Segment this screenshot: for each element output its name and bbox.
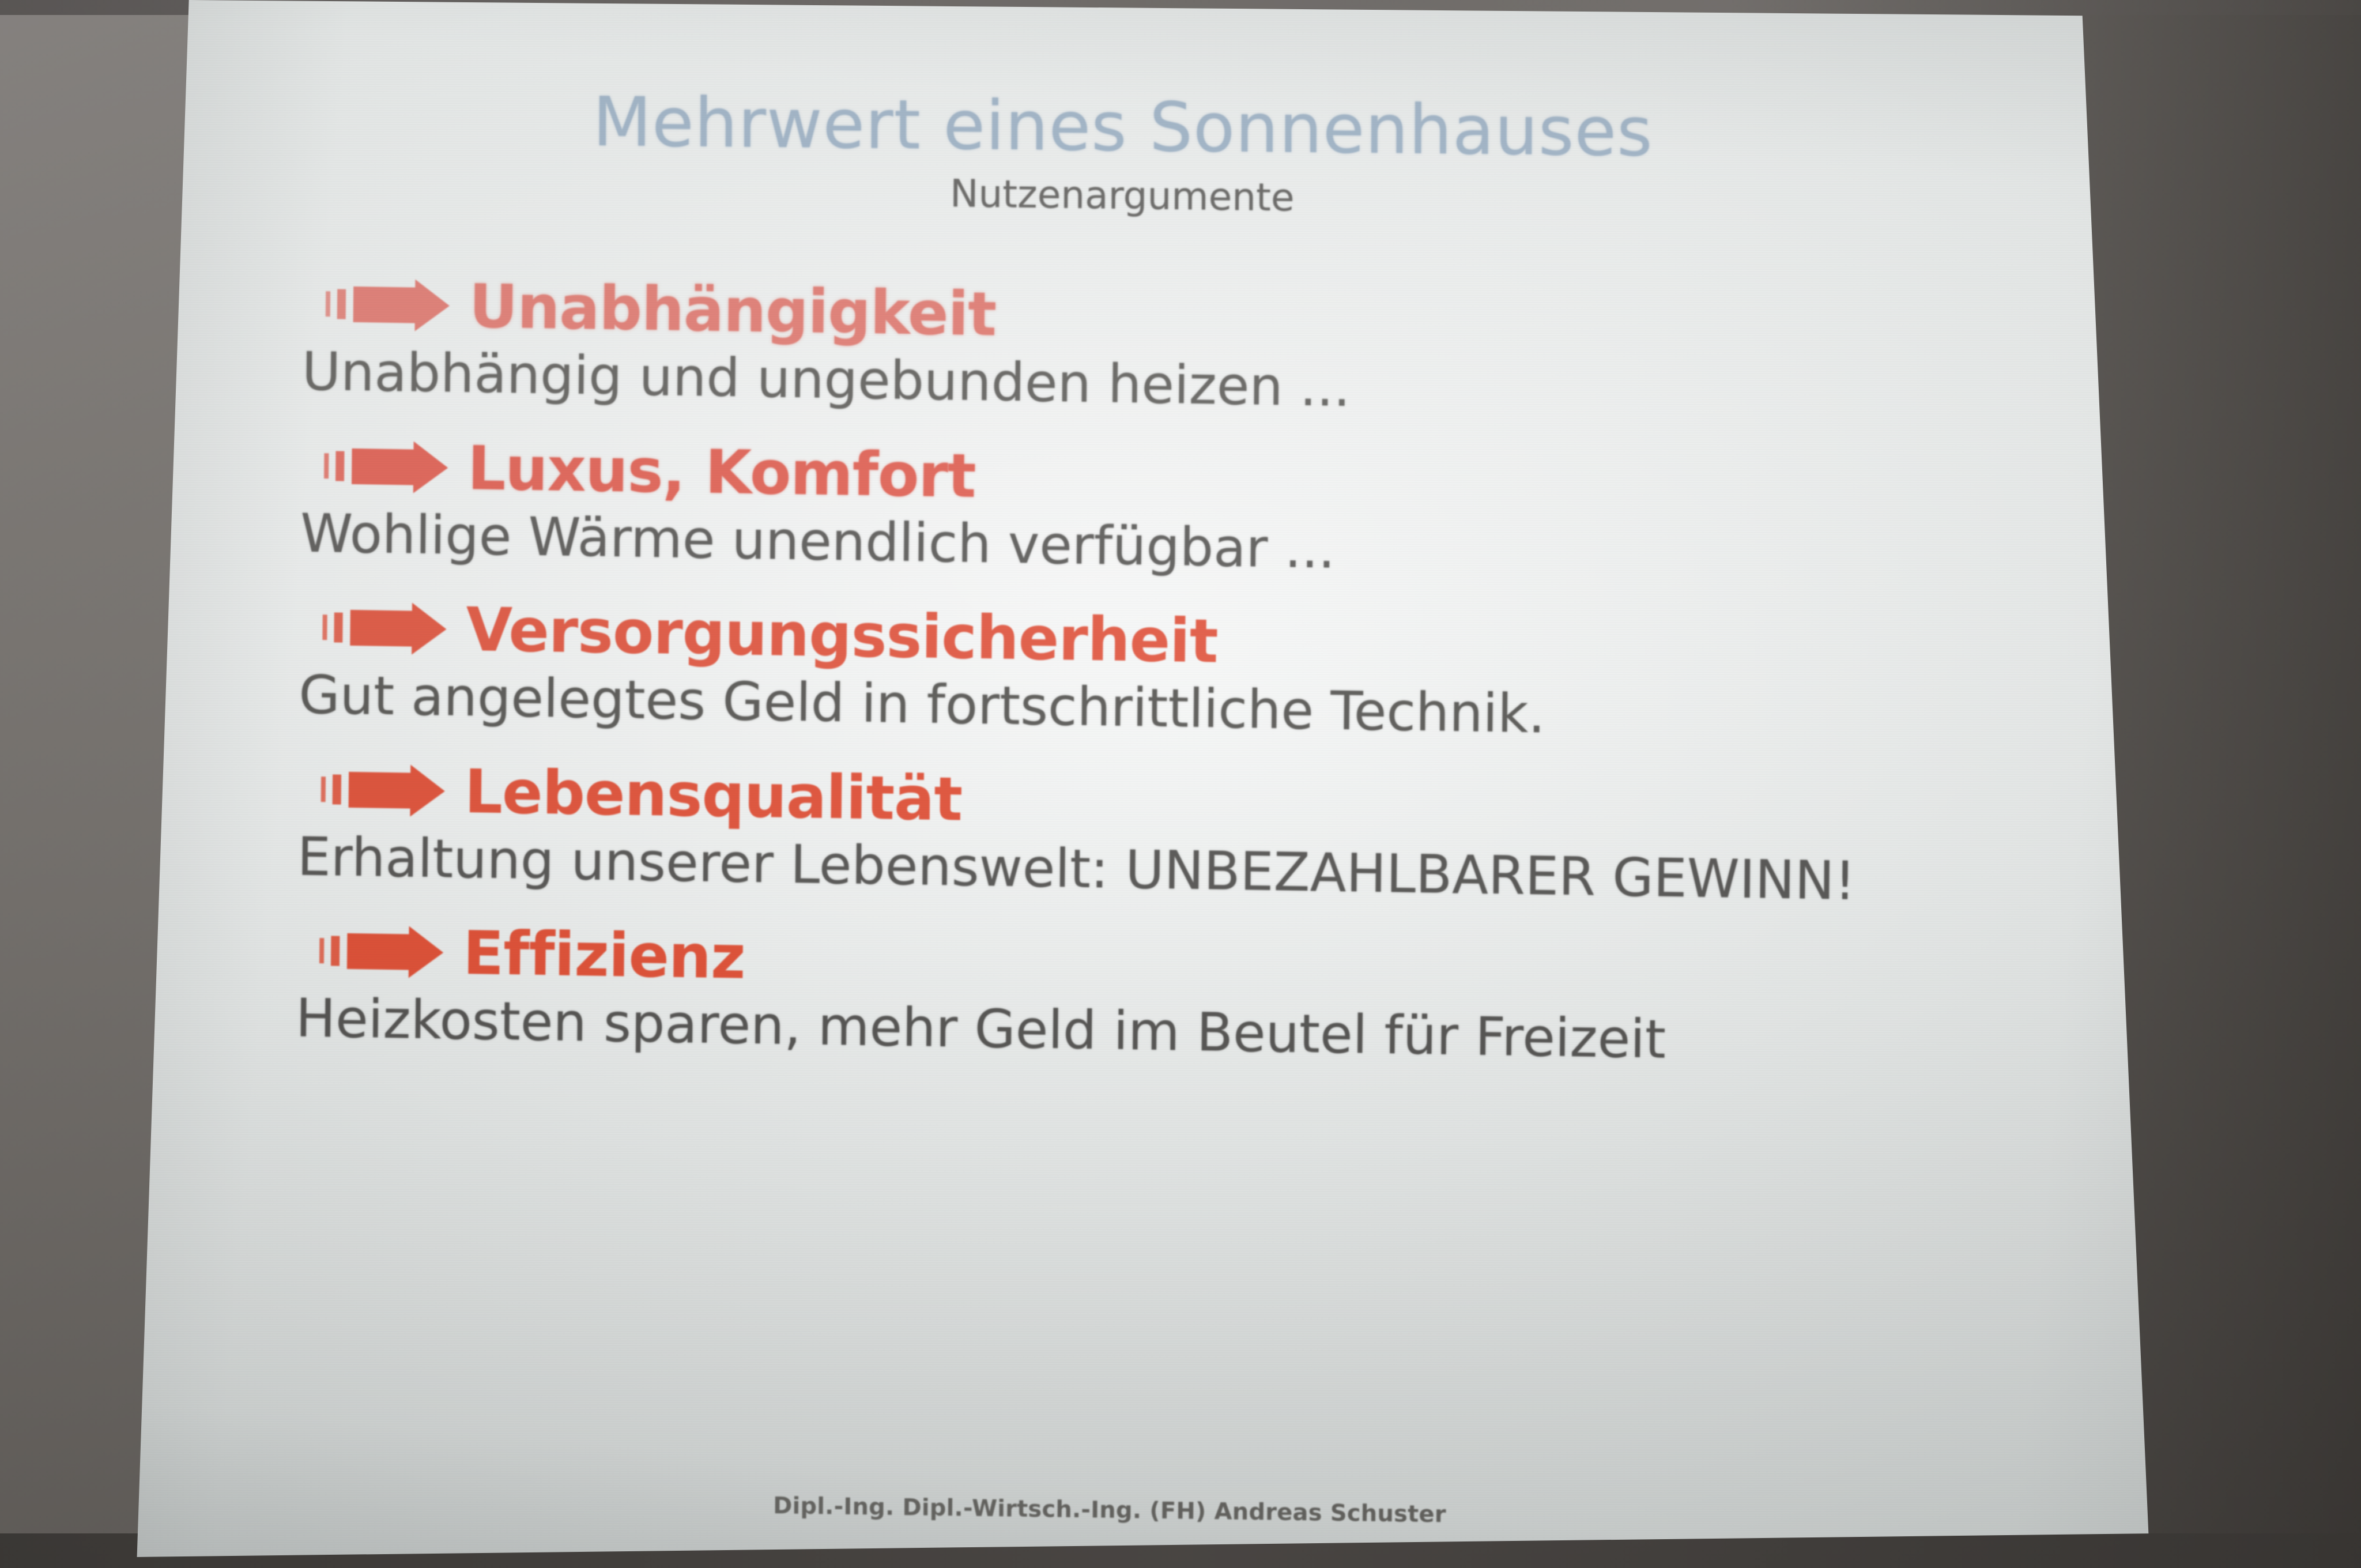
bullet-item-effizienz: Effizienz Heizkosten sparen, mehr Geld i… — [296, 921, 2084, 1075]
slide-footer-author: Dipl.-Ing. Dipl.-Wirtsch.-Ing. (FH) Andr… — [124, 1484, 2095, 1536]
right-arrow-icon — [319, 933, 444, 970]
slide-title: Mehrwert eines Sonnenhauses — [137, 81, 2109, 173]
bullet-item-lebensqualitaet: Lebensqualität Erhaltung unserer Lebensw… — [297, 759, 2085, 913]
bullet-title: Versorgungssicherheit — [466, 600, 1218, 671]
bullet-item-versorgungssicherheit: Versorgungssicherheit Gut angelegtes Gel… — [299, 597, 2087, 751]
right-arrow-icon — [326, 286, 450, 323]
bullet-title: Lebensqualität — [464, 762, 962, 830]
right-arrow-icon — [322, 609, 447, 647]
bullet-title: Luxus, Komfort — [467, 438, 976, 506]
title-block: Mehrwert eines Sonnenhauses Nutzenargume… — [137, 75, 2109, 233]
bullet-title: Unabhängigkeit — [469, 276, 996, 344]
projection-screen: Mehrwert eines Sonnenhauses Nutzenargume… — [0, 0, 2361, 1568]
slide-subtitle: Nutzenargumente — [137, 163, 2108, 229]
bullet-item-luxus-komfort: Luxus, Komfort Wohlige Wärme unendlich v… — [300, 435, 2088, 589]
bullet-title: Effizienz — [463, 923, 745, 987]
bullet-item-unabhaengigkeit: Unabhängigkeit Unabhängig und ungebunden… — [301, 274, 2090, 428]
projected-slide-photo: Mehrwert eines Sonnenhauses Nutzenargume… — [0, 0, 2361, 1568]
slide-content: Mehrwert eines Sonnenhauses Nutzenargume… — [123, 0, 2110, 1568]
right-arrow-icon — [324, 448, 448, 485]
right-arrow-icon — [321, 771, 446, 809]
bullet-list: Unabhängigkeit Unabhängig und ungebunden… — [295, 274, 2090, 1111]
